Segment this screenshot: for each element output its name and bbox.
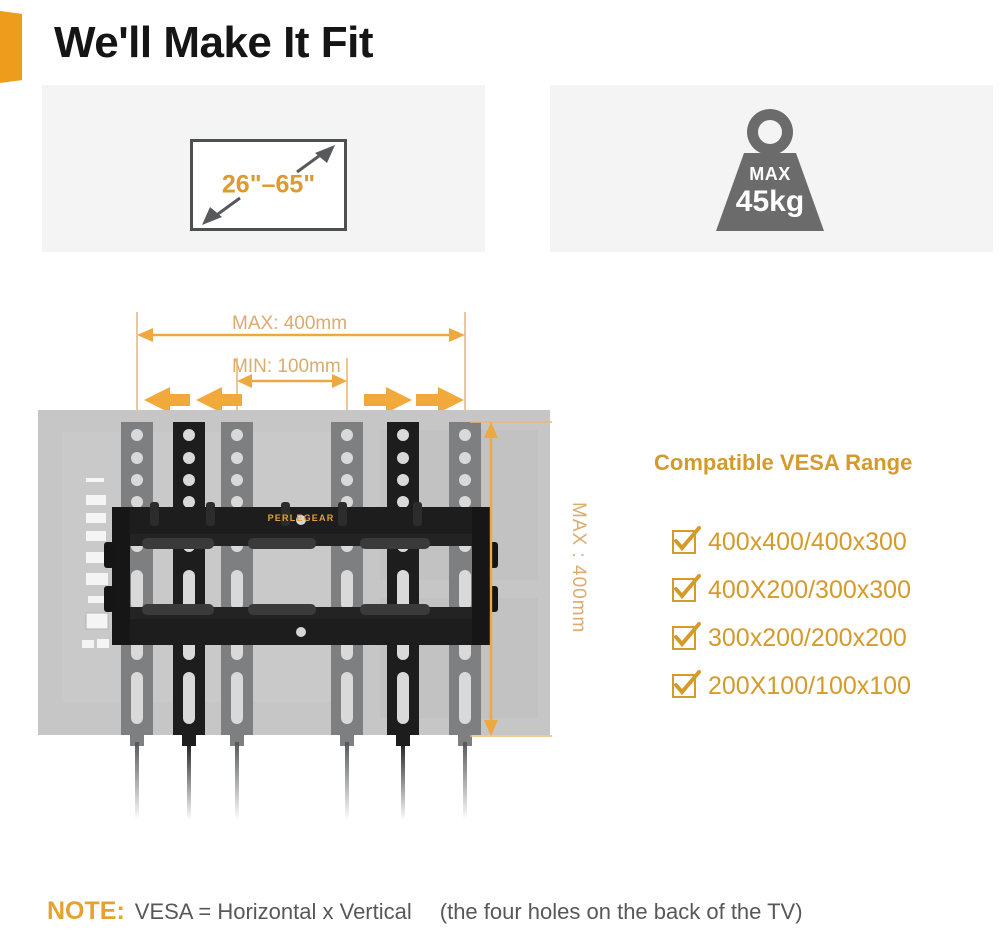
weight-capacity-card: MAX 45kg <box>550 85 993 252</box>
list-item[interactable]: 400X200/300x300 <box>672 566 911 614</box>
note-body: VESA = Horizontal x Vertical <box>135 899 412 925</box>
infographic-canvas: We'll Make It Fit 26"–65" MAX 45k <box>0 0 1000 930</box>
note-keyword: NOTE: <box>47 897 125 926</box>
checkbox-checked-icon[interactable] <box>672 626 696 650</box>
checkbox-checked-icon[interactable] <box>672 674 696 698</box>
horizontal-min-arrow <box>237 374 347 388</box>
weight-value-label: 45kg <box>700 185 840 219</box>
tv-frame-icon: 26"–65" <box>190 139 347 231</box>
vesa-item-label: 200X100/100x100 <box>708 672 911 701</box>
vesa-range-list: 400x400/400x300 400X200/300x300 300x200/… <box>672 518 911 710</box>
horizontal-adjust-arrows-icon <box>144 387 464 413</box>
checkbox-checked-icon[interactable] <box>672 578 696 602</box>
brand-label: PERLEGEAR <box>268 513 335 523</box>
vesa-item-label: 400x400/400x300 <box>708 528 907 557</box>
title-accent-bar <box>0 11 22 83</box>
screen-size-card: 26"–65" <box>42 85 485 252</box>
vesa-item-label: 400X200/300x300 <box>708 576 911 605</box>
vesa-item-label: 300x200/200x200 <box>708 624 907 653</box>
weight-icon: MAX 45kg <box>700 107 840 233</box>
tv-mount-illustration: PERLEGEAR <box>0 280 640 820</box>
vesa-range-heading: Compatible VESA Range <box>654 450 912 476</box>
checkbox-checked-icon[interactable] <box>672 530 696 554</box>
list-item[interactable]: 200X100/100x100 <box>672 662 911 710</box>
list-item[interactable]: 300x200/200x200 <box>672 614 911 662</box>
weight-max-label: MAX <box>700 164 840 185</box>
horizontal-max-arrow <box>137 328 465 342</box>
list-item[interactable]: 400x400/400x300 <box>672 518 911 566</box>
page-title: We'll Make It Fit <box>54 18 373 68</box>
screen-size-label: 26"–65" <box>222 171 315 200</box>
note-parenthetical: (the four holes on the back of the TV) <box>440 899 803 925</box>
note-row: NOTE: VESA = Horizontal x Vertical (the … <box>47 897 803 926</box>
